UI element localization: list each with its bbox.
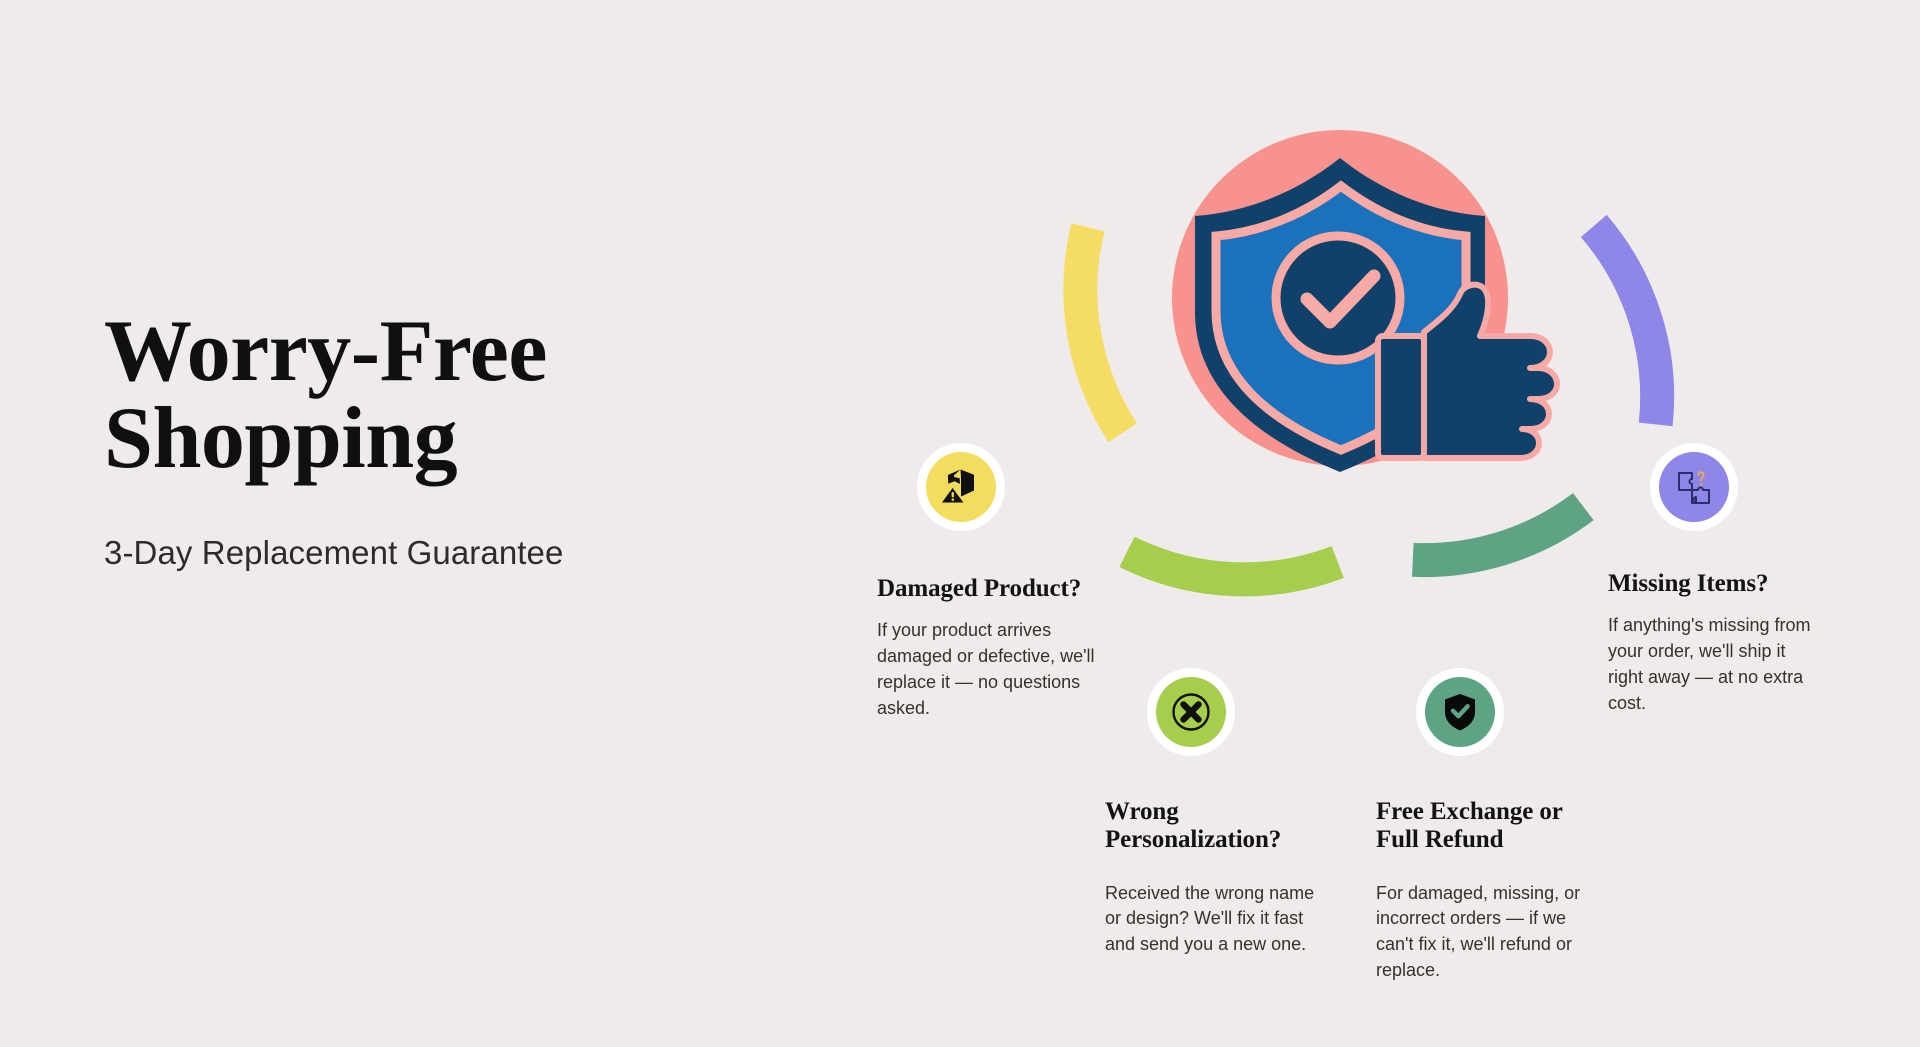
icon-disc-damaged — [926, 452, 996, 522]
infographic-canvas: Worry-Free Shopping 3-Day Replacement Gu… — [0, 0, 1920, 1047]
feature-title-missing: Missing Items? — [1608, 570, 1818, 598]
feature-body-exchange: For damaged, missing, or incorrect order… — [1376, 881, 1592, 985]
center-illustration — [1172, 130, 1557, 472]
feature-body-missing: If anything's missing from your order, w… — [1608, 613, 1818, 717]
icon-disc-missing — [1659, 452, 1729, 522]
page-title-line-2: Shopping — [104, 395, 804, 482]
circular-diagram: Damaged Product? If your product arrives… — [860, 40, 1920, 1047]
arc-exchange — [1413, 507, 1584, 560]
icon-bubble-damaged[interactable] — [917, 443, 1005, 531]
feature-title-exchange: Free Exchange or Full Refund — [1376, 798, 1592, 855]
shield-check-icon — [1439, 691, 1481, 733]
feature-body-damaged: If your product arrives damaged or defec… — [877, 618, 1109, 722]
feature-body-wrong: Received the wrong name or design? We'll… — [1105, 881, 1315, 959]
icon-disc-wrong — [1156, 677, 1226, 747]
page-title: Worry-Free Shopping — [104, 308, 804, 482]
icon-disc-exchange — [1425, 677, 1495, 747]
feature-card-damaged: Damaged Product? If your product arrives… — [877, 575, 1109, 722]
feature-title-damaged: Damaged Product? — [877, 575, 1109, 603]
feature-title-wrong: Wrong Personalization? — [1105, 798, 1315, 855]
icon-bubble-missing[interactable] — [1650, 443, 1738, 531]
arc-damaged — [1080, 227, 1122, 432]
hero-block: Worry-Free Shopping 3-Day Replacement Gu… — [104, 308, 804, 572]
feature-card-missing: Missing Items? If anything's missing fro… — [1608, 570, 1818, 717]
x-circle-icon — [1170, 691, 1212, 733]
icon-bubble-wrong[interactable] — [1147, 668, 1235, 756]
feature-card-wrong: Wrong Personalization? Received the wron… — [1105, 798, 1315, 958]
puzzle-question-icon — [1672, 465, 1716, 509]
page-subtitle: 3-Day Replacement Guarantee — [104, 534, 804, 572]
page-title-line-1: Worry-Free — [104, 303, 547, 400]
arc-wrong — [1127, 552, 1338, 580]
arc-missing — [1594, 226, 1657, 424]
icon-bubble-exchange[interactable] — [1416, 668, 1504, 756]
damaged-box-warning-icon — [940, 466, 982, 508]
feature-card-exchange: Free Exchange or Full Refund For damaged… — [1376, 798, 1592, 984]
